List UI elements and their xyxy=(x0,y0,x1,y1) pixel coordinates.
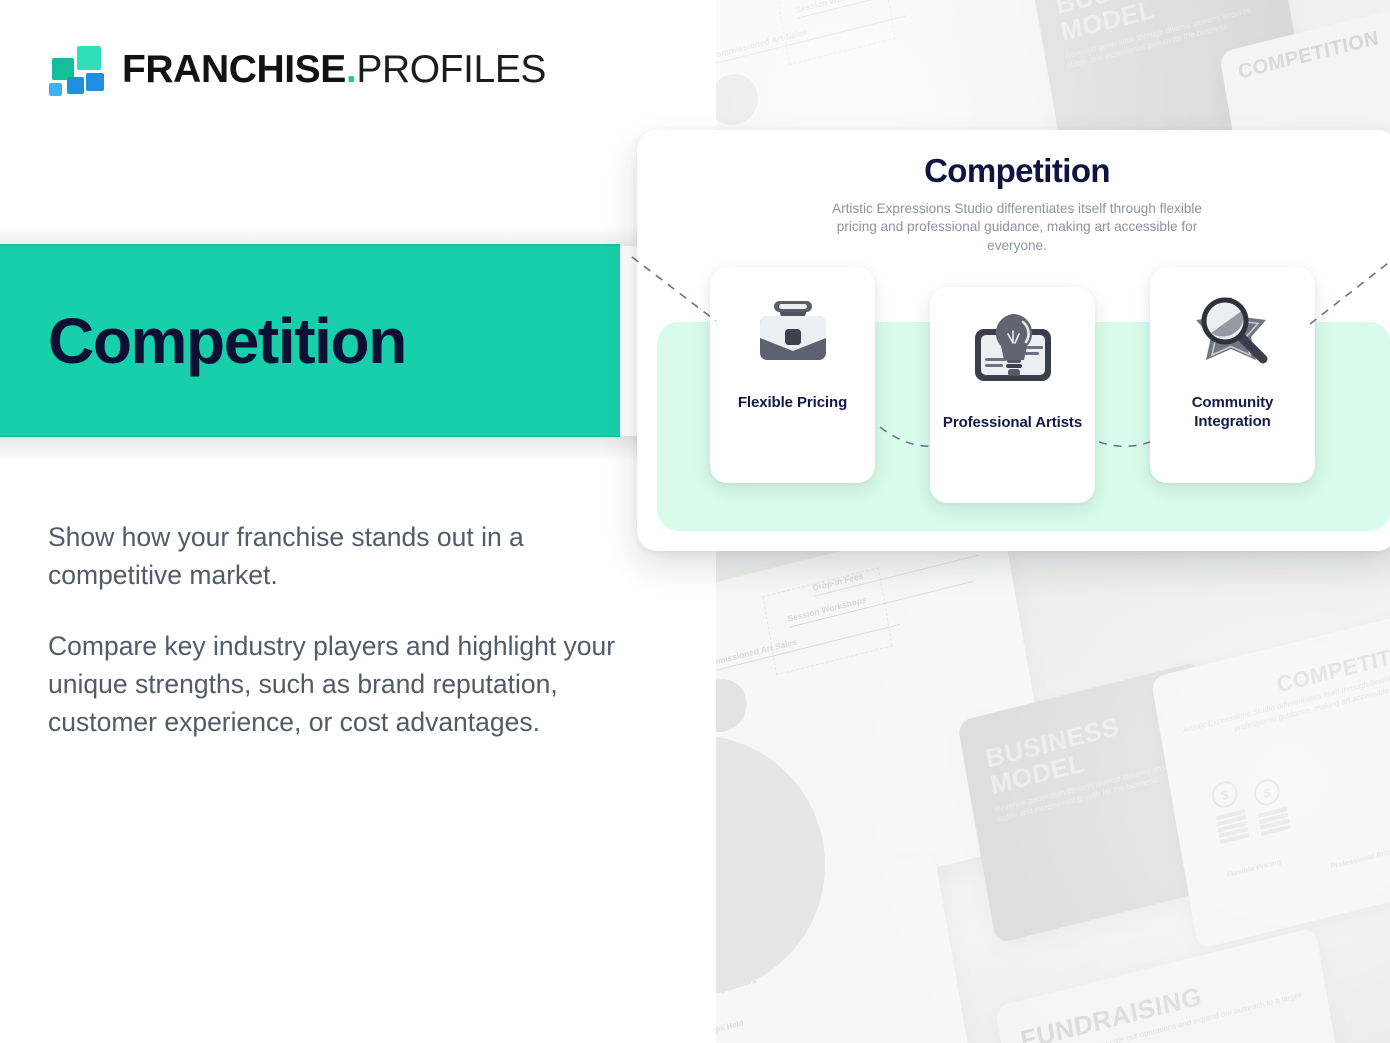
ghost-coin-circle xyxy=(715,674,751,738)
slide-canvas: Drop-in Fees Session Workshops Commissio… xyxy=(0,0,1390,1043)
feature-card-flexible-pricing[interactable]: Flexible Pricing xyxy=(710,267,875,483)
ghost-coin-stack xyxy=(1215,809,1249,846)
ghost-chip: Professional Artists xyxy=(1325,844,1390,872)
star-magnifier-icon xyxy=(1181,283,1285,387)
lightbulb-presentation-icon xyxy=(961,303,1065,407)
description-paragraph-2: Compare key industry players and highlig… xyxy=(48,628,633,741)
ghost-coin-circle xyxy=(715,69,762,130)
feature-label: Flexible Pricing xyxy=(738,393,847,412)
briefcase-icon xyxy=(741,283,845,387)
brand-name-dot: . xyxy=(346,48,356,91)
description-text: Show how your franchise stands out in a … xyxy=(48,519,633,741)
ghost-coin-stack xyxy=(1258,807,1291,838)
ghost-slide-competition: COMPETITION Artistic Expressions Studio … xyxy=(1151,605,1390,949)
brand-wordmark: FRANCHISE.PROFILES xyxy=(122,48,546,92)
brand-name-light: PROFILES xyxy=(356,48,546,91)
feature-card-community-integration[interactable]: Community Integration xyxy=(1150,267,1315,483)
section-title-banner: Competition xyxy=(0,244,620,437)
ghost-coin: $ xyxy=(1210,779,1240,811)
ghost-slide-fundraising: FUNDRAISING Securing investment to scale… xyxy=(995,927,1366,1043)
brand-name-bold: FRANCHISE xyxy=(122,48,346,91)
left-panel-top xyxy=(0,0,716,244)
ghost-stat-label: Workshops Held xyxy=(715,1018,744,1042)
franchise-profiles-logo-mark xyxy=(48,44,104,96)
ghost-coin: $ xyxy=(1252,776,1282,808)
description-paragraph-1: Show how your franchise stands out in a … xyxy=(48,519,633,594)
feature-label: Community Integration xyxy=(1160,393,1305,431)
brand-logo[interactable]: FRANCHISE.PROFILES xyxy=(48,44,546,96)
preview-subtitle: Artistic Expressions Studio differentiat… xyxy=(821,200,1213,255)
feature-card-professional-artists[interactable]: Professional Artists xyxy=(930,287,1095,503)
page-title: Competition xyxy=(48,309,406,373)
feature-label: Professional Artists xyxy=(943,413,1082,432)
preview-title: Competition xyxy=(637,152,1390,190)
ghost-chip: Flexible Pricing xyxy=(1219,855,1288,881)
slide-preview-card[interactable]: Competition Artistic Expressions Studio … xyxy=(637,130,1390,551)
